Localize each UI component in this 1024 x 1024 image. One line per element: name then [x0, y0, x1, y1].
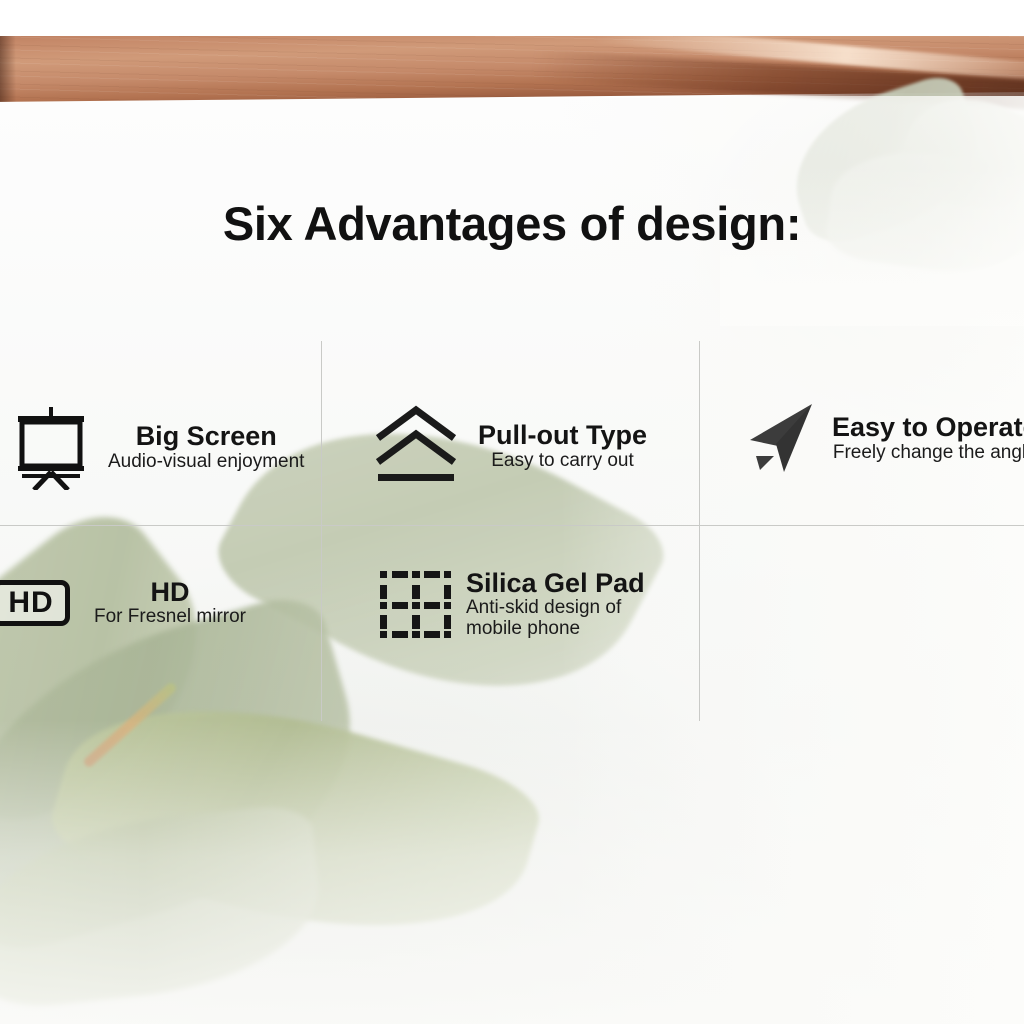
product-infographic-page: Six Advantages of design: Big Screen Aud…: [0, 0, 1024, 1024]
feature-silica-gel-pad-subtitle-line1: Anti-skid design of: [466, 597, 621, 618]
feature-hd-text: HD For Fresnel mirror: [94, 578, 246, 628]
feature-hd-title: HD: [151, 578, 190, 606]
feature-hd-subtitle: For Fresnel mirror: [94, 606, 246, 627]
feature-pull-out-type-text: Pull-out Type Easy to carry out: [478, 421, 647, 471]
page-title: Six Advantages of design:: [0, 196, 1024, 251]
dashed-grid-icon: [378, 568, 454, 640]
feature-silica-gel-pad: Silica Gel Pad Anti-skid design of mobil…: [378, 568, 645, 640]
feature-easy-to-operate: Easy to Operate Freely change the angle: [742, 398, 1024, 478]
feature-big-screen-text: Big Screen Audio-visual enjoyment: [108, 422, 304, 472]
feature-big-screen: Big Screen Audio-visual enjoyment: [8, 404, 304, 490]
feature-easy-to-operate-text: Easy to Operate Freely change the angle: [832, 413, 1024, 463]
feature-silica-gel-pad-text: Silica Gel Pad Anti-skid design of mobil…: [466, 569, 645, 640]
feature-silica-gel-pad-title: Silica Gel Pad: [466, 569, 645, 597]
hd-badge-label: HD: [8, 588, 53, 618]
feature-easy-to-operate-subtitle: Freely change the angle: [833, 442, 1024, 463]
feature-pull-out-type: Pull-out Type Easy to carry out: [370, 404, 647, 488]
double-chevron-up-icon: [370, 404, 462, 488]
feature-pull-out-type-title: Pull-out Type: [478, 421, 647, 449]
paper-plane-icon: [742, 398, 822, 478]
feature-silica-gel-pad-subtitle-line2: mobile phone: [466, 618, 580, 639]
hd-badge-frame: HD: [0, 580, 70, 626]
hd-badge-icon: HD: [0, 580, 70, 626]
feature-big-screen-title: Big Screen: [136, 422, 277, 450]
feature-easy-to-operate-title: Easy to Operate: [832, 413, 1024, 441]
feature-big-screen-subtitle: Audio-visual enjoyment: [108, 451, 304, 472]
feature-pull-out-type-subtitle: Easy to carry out: [491, 450, 634, 471]
feature-hd: HD HD For Fresnel mirror: [0, 578, 246, 628]
projector-screen-icon: [8, 404, 94, 490]
